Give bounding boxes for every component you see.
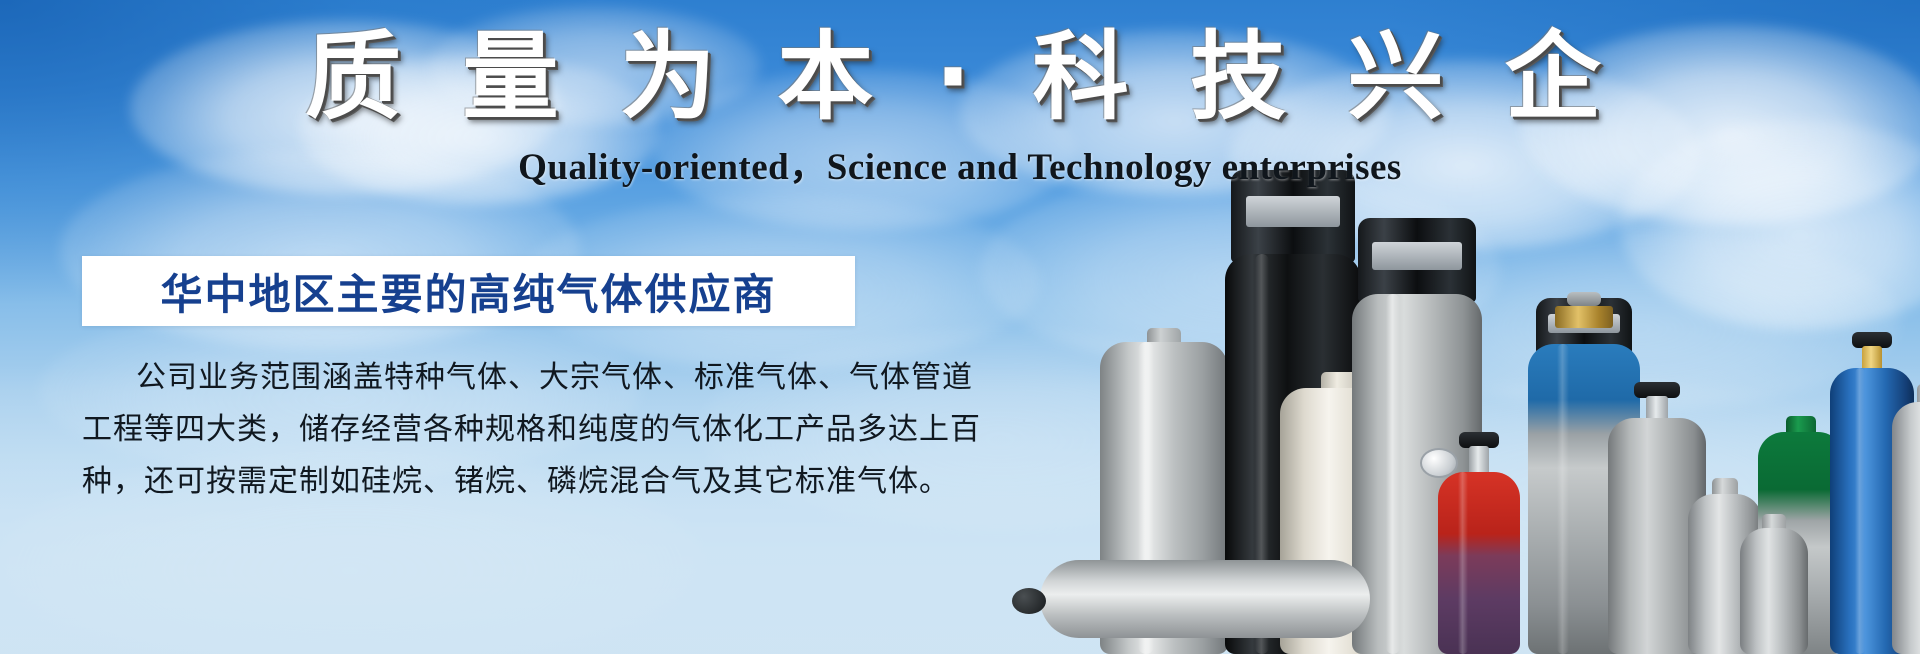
cylinder-body	[1438, 472, 1520, 654]
brass-valve	[1555, 306, 1613, 328]
cylinder-valve-cap	[1358, 218, 1476, 302]
paragraph-line: 工程等四大类，储存经营各种规格和纯度的气体化工产品多达上百	[82, 404, 882, 456]
slogan-text: 华中地区主要的高纯气体供应商	[160, 261, 776, 322]
cylinder-aluminium-mid	[1740, 514, 1808, 654]
cylinder-red-purple-small	[1438, 424, 1520, 654]
cylinder-horizontal-grey-tank	[1040, 560, 1370, 638]
paragraph-line: 公司业务范围涵盖特种气体、大宗气体、标准气体、气体管道	[82, 352, 882, 404]
paragraph-line: 种，还可按需定制如硅烷、锗烷、磷烷混合气及其它标准气体。	[82, 456, 882, 508]
slogan-box: 华中地区主要的高纯气体供应商	[82, 256, 855, 326]
page-subtitle: Quality-oriented，Science and Technology …	[0, 136, 1920, 190]
description-paragraph: 公司业务范围涵盖特种气体、大宗气体、标准气体、气体管道 工程等四大类，储存经营各…	[82, 352, 882, 508]
page-title: 质 量 为 本 · 科 技 兴 企	[0, 26, 1920, 130]
cylinder-body	[1740, 528, 1808, 654]
cylinder-body	[1892, 402, 1920, 654]
cylinder-aluminium-tall	[1892, 384, 1920, 654]
gas-company-banner: 质 量 为 本 · 科 技 兴 企 Quality-oriented，Scien…	[0, 0, 1920, 654]
valve-handwheel	[1567, 292, 1601, 306]
horizontal-tank-valve	[1012, 588, 1046, 614]
